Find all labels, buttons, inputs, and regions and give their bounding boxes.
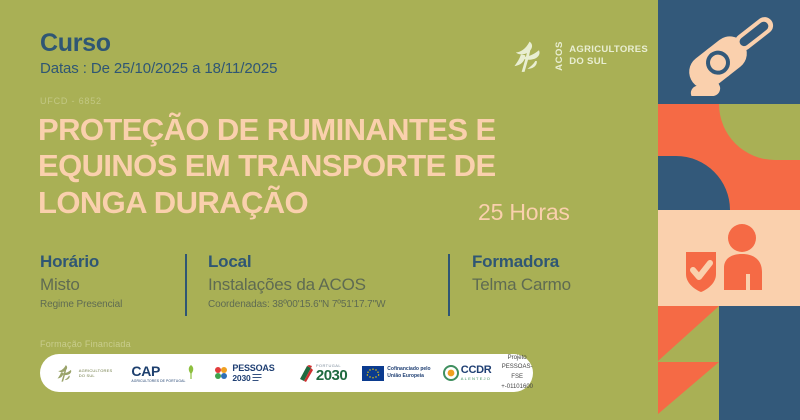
portugal-flag-icon [298, 364, 314, 382]
acos-wordmark: ACOS AGRICULTORES DO SUL [554, 41, 648, 71]
acos-tagline-line-2: DO SUL [569, 56, 648, 68]
logo-projeto-line-2: PESSOAS-FSE [501, 363, 533, 382]
course-title-line-1: PROTEÇÃO DE RUMINANTES E [38, 112, 618, 148]
logo-uniao-europeia: Cofinanciado pelo União Europeia [360, 354, 433, 392]
course-title-line-2: EQUINOS EM TRANSPORTE DE [38, 148, 618, 184]
logo-projeto-line-1: Projeto [501, 354, 533, 364]
logo-eu-text: Cofinanciado pelo União Europeia [387, 366, 430, 380]
logo-cap: CAP AGRICULTORES DE PORTUGAL [126, 354, 203, 392]
info-column-local: Local Instalações da ACOS Coordenadas: 3… [208, 252, 385, 310]
logo-acos-line-2: DO SUL [79, 373, 113, 378]
logo-ccdr-text: CCDR [461, 365, 492, 376]
info-divider-2 [448, 254, 450, 316]
logo-eu-line-2: União Europeia [387, 373, 430, 380]
eu-flag-icon [362, 366, 384, 381]
logo-portugal-text: 2030 [316, 368, 347, 383]
logo-projeto: Projeto PESSOAS-FSE +-01101600 [501, 354, 533, 392]
pessoas-mark-icon [213, 365, 229, 381]
info-heading: Horário [40, 252, 122, 272]
logo-cap-text: CAP [131, 364, 185, 378]
acos-tagline-line-1: AGRICULTORES [569, 44, 648, 56]
info-sub: Regime Presencial [40, 299, 122, 310]
protected-person-icon [672, 222, 786, 294]
info-heading: Local [208, 252, 385, 272]
info-heading: Formadora [472, 252, 571, 272]
ufcd-code: UFCD - 6852 [40, 96, 102, 106]
info-main: Instalações da ACOS [208, 275, 385, 295]
acos-wheat-icon [54, 363, 76, 383]
course-header: Curso Datas : De 25/10/2025 a 18/11/2025 [40, 30, 277, 77]
financing-label: Formação Financiada [40, 339, 131, 349]
course-dates: Datas : De 25/10/2025 a 18/11/2025 [40, 60, 277, 77]
acos-wheat-icon [508, 32, 548, 80]
ccdr-mark-icon [443, 365, 459, 381]
decor-triangle-2 [658, 362, 719, 414]
logo-acos: AGRICULTORES DO SUL [40, 354, 126, 392]
funding-logo-bar: AGRICULTORES DO SUL CAP AGRICULTORES DE … [40, 354, 533, 392]
course-poster: Curso Datas : De 25/10/2025 a 18/11/2025… [0, 0, 800, 420]
info-divider-1 [185, 254, 187, 316]
logo-pessoas-sub: 2030 [232, 374, 250, 383]
wheat-icon [185, 364, 197, 380]
acos-logo: ACOS AGRICULTORES DO SUL [508, 30, 648, 82]
chainsaw-icon [668, 8, 792, 96]
info-sub: Coordenadas: 38º00'15.6"N 7º51'17.7"W [208, 299, 385, 310]
logo-ccdr-sub: ALENTEJO [461, 376, 492, 381]
logo-cap-sub: AGRICULTORES DE PORTUGAL [131, 379, 185, 383]
acos-tagline: AGRICULTORES DO SUL [569, 44, 648, 68]
course-duration: 25 Horas [478, 199, 570, 226]
logo-pessoas-2030: PESSOAS 2030 ▬▬▬▬▬▬▬▬ [203, 354, 285, 392]
logo-portugal-2030: PORTUGAL 2030 [285, 354, 360, 392]
decor-triangle-1 [658, 306, 719, 361]
logo-pessoas-tiny: ▬▬▬▬▬▬▬▬ [253, 373, 262, 383]
info-column-horario: Horário Misto Regime Presencial [40, 252, 122, 310]
logo-acos-text: AGRICULTORES DO SUL [79, 368, 113, 378]
logo-ccdr: CCDR ALENTEJO [433, 354, 501, 392]
decor-block-blue-bottom [719, 306, 800, 420]
decorative-panel [648, 0, 800, 420]
info-column-formadora: Formadora Telma Carmo [472, 252, 571, 295]
info-main: Misto [40, 275, 122, 295]
poster-content: Curso Datas : De 25/10/2025 a 18/11/2025… [0, 0, 648, 420]
course-info-row: Horário Misto Regime Presencial Local In… [40, 252, 620, 324]
logo-projeto-line-3: +-01101600 [501, 383, 533, 393]
curso-label: Curso [40, 30, 277, 56]
logo-projeto-text: Projeto PESSOAS-FSE +-01101600 [501, 354, 533, 392]
logo-eu-line-1: Cofinanciado pelo [387, 366, 430, 373]
acos-acronym: ACOS [554, 41, 565, 71]
info-main: Telma Carmo [472, 275, 571, 295]
